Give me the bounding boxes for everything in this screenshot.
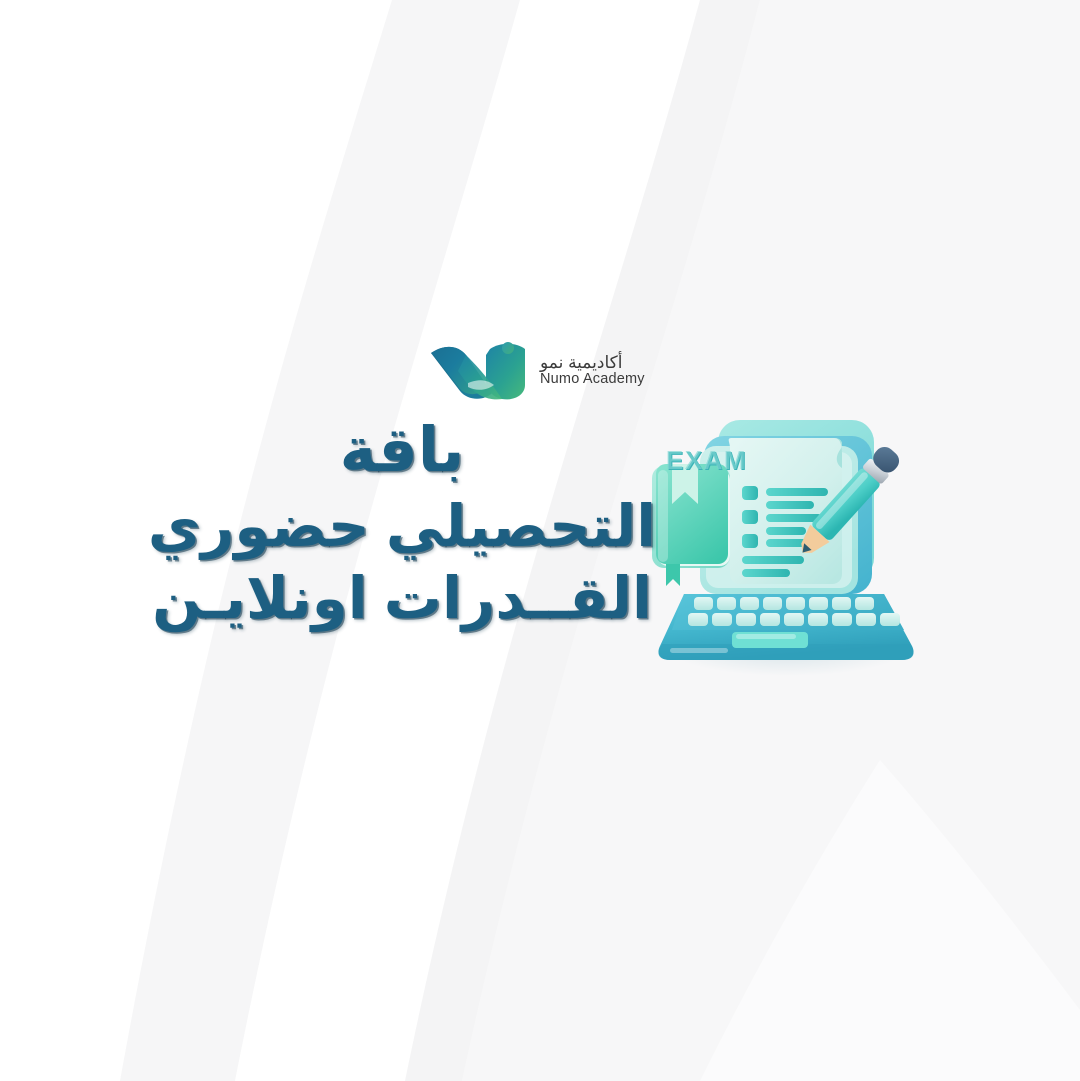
key bbox=[832, 597, 851, 610]
laptop-exam-book-pencil-3d-icon: EXAM EXAM bbox=[636, 398, 928, 688]
exam-line-1b bbox=[766, 501, 814, 509]
key bbox=[880, 613, 900, 626]
headline-block: باقة التحصيلي حضوري القــدرات اونلايـن bbox=[142, 420, 662, 628]
brand-logo-lockup: أكاديمية نمو Numo Academy bbox=[428, 336, 648, 408]
exam-line-4a bbox=[742, 556, 804, 564]
brand-wordmark: أكاديمية نمو Numo Academy bbox=[540, 354, 645, 390]
exam-checkbox-2 bbox=[742, 510, 758, 524]
key bbox=[808, 613, 828, 626]
headline-line-2: التحصيلي حضوري bbox=[142, 498, 662, 556]
key bbox=[832, 613, 852, 626]
promo-canvas: أكاديمية نمو Numo Academy bbox=[0, 0, 1080, 1081]
laptop-base-highlight bbox=[670, 648, 728, 653]
trackpad-highlight bbox=[736, 634, 796, 639]
key bbox=[717, 597, 736, 610]
key bbox=[736, 613, 756, 626]
key bbox=[784, 613, 804, 626]
key bbox=[763, 597, 782, 610]
book-bookmark-ribbon-bottom bbox=[666, 564, 680, 586]
key bbox=[688, 613, 708, 626]
key bbox=[740, 597, 759, 610]
key bbox=[809, 597, 828, 610]
laptop-exam-illustration: EXAM EXAM bbox=[636, 398, 928, 688]
key bbox=[856, 613, 876, 626]
numo-n-swoosh-logo-icon bbox=[428, 339, 532, 405]
exam-line-4b bbox=[742, 569, 790, 577]
exam-checkbox-1 bbox=[742, 486, 758, 500]
key bbox=[855, 597, 874, 610]
key bbox=[712, 613, 732, 626]
exam-paper-title-highlight: EXAM bbox=[666, 445, 747, 475]
key bbox=[694, 597, 713, 610]
laptop-base bbox=[658, 594, 913, 660]
exam-checkbox-3 bbox=[742, 534, 758, 548]
key bbox=[760, 613, 780, 626]
key bbox=[786, 597, 805, 610]
book-with-bookmark bbox=[652, 464, 730, 586]
headline-line-1: باقة bbox=[142, 420, 662, 482]
brand-name-english: Numo Academy bbox=[540, 372, 645, 388]
exam-line-2a bbox=[766, 514, 822, 522]
exam-line-2b bbox=[766, 527, 806, 535]
exam-line-1a bbox=[766, 488, 828, 496]
headline-line-3: القــدرات اونلايـن bbox=[142, 570, 662, 628]
brand-name-arabic: أكاديمية نمو bbox=[540, 354, 622, 372]
